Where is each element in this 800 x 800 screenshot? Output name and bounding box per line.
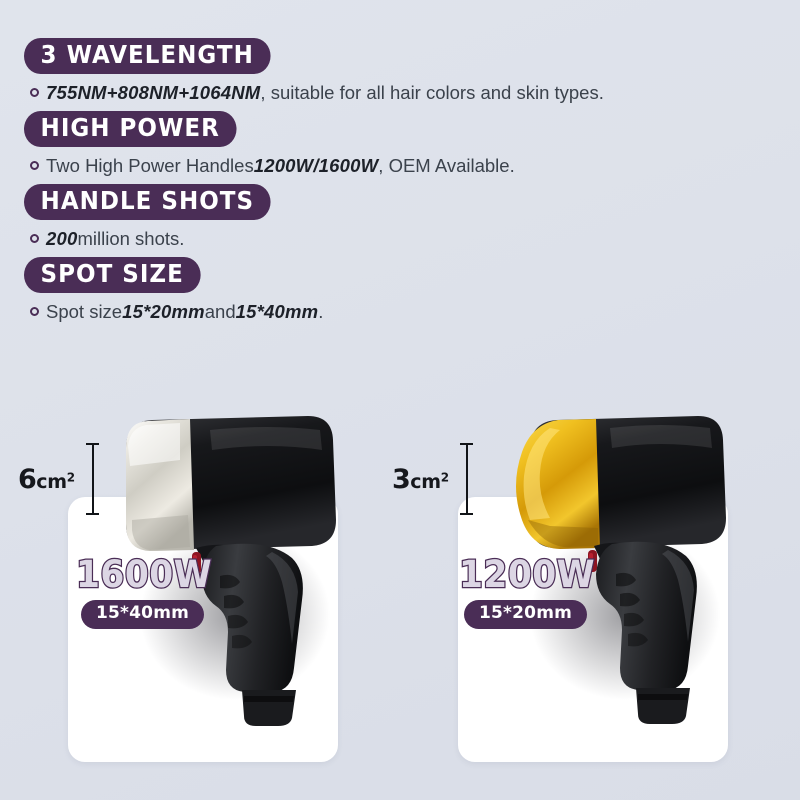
feature-desc-wavelength: 755NM+808NM+1064NM , suitable for all ha…	[30, 81, 784, 104]
feature-badge-wavelength: 3 WAVELENGTH	[24, 38, 270, 74]
measurement-superscript: 2	[441, 470, 449, 484]
measurement-unit: cm	[36, 471, 66, 493]
feature-high-power: HIGH POWER Two High Power Handles 1200W/…	[24, 111, 784, 177]
feature-value-spot-size-1: 15*20mm	[122, 300, 205, 323]
feature-desc-high-power: Two High Power Handles 1200W/1600W , OEM…	[30, 154, 784, 177]
feature-text-handle-shots: million shots.	[77, 227, 184, 250]
measurement-label-3cm: 3cm2	[392, 466, 449, 493]
feature-value-handle-shots: 200	[46, 227, 77, 250]
measurement-unit: cm	[410, 471, 440, 493]
bullet-icon	[30, 307, 39, 316]
product-caption-1200w: 1200W 15*20mm	[459, 556, 605, 629]
bullet-icon	[30, 234, 39, 243]
feature-text-wavelength: , suitable for all hair colors and skin …	[260, 81, 603, 104]
feature-badge-spot-size: SPOT SIZE	[24, 257, 200, 293]
feature-value-high-power: 1200W/1600W	[254, 154, 379, 177]
measurement-bar-icon	[460, 443, 473, 515]
product-power-label-1200w: 1200W	[459, 556, 595, 593]
feature-wavelength: 3 WAVELENGTH 755NM+808NM+1064NM , suitab…	[24, 38, 784, 104]
feature-badge-handle-shots: HANDLE SHOTS	[24, 184, 271, 220]
measurement-superscript: 2	[67, 470, 75, 484]
bullet-icon	[30, 161, 39, 170]
feature-mid-spot-size: and	[205, 300, 236, 323]
feature-spot-size: SPOT SIZE Spot size 15*20mm and 15*40mm …	[24, 257, 784, 323]
feature-desc-handle-shots: 200 million shots.	[30, 227, 784, 250]
feature-desc-spot-size: Spot size 15*20mm and 15*40mm .	[30, 300, 784, 323]
feature-badge-high-power: HIGH POWER	[24, 111, 236, 147]
feature-lead-high-power: Two High Power Handles	[46, 154, 254, 177]
bullet-icon	[30, 88, 39, 97]
feature-list: 3 WAVELENGTH 755NM+808NM+1064NM , suitab…	[24, 38, 784, 331]
measurement-3cm: 3cm2	[392, 443, 473, 515]
product-spot-size-badge-1200w: 15*20mm	[464, 600, 587, 629]
product-caption-1600w: 1600W 15*40mm	[76, 556, 222, 629]
measurement-number: 6	[18, 464, 36, 495]
product-spot-size-badge-1600w: 15*40mm	[81, 600, 204, 629]
product-power-label-1600w: 1600W	[76, 556, 212, 593]
feature-lead-spot-size: Spot size	[46, 300, 122, 323]
measurement-label-6cm: 6cm2	[18, 466, 75, 493]
product-spec-page: 3 WAVELENGTH 755NM+808NM+1064NM , suitab…	[0, 0, 800, 800]
feature-text-high-power: , OEM Available.	[378, 154, 514, 177]
measurement-number: 3	[392, 464, 410, 495]
feature-value-wavelength: 755NM+808NM+1064NM	[46, 81, 260, 104]
measurement-bar-icon	[86, 443, 99, 515]
measurement-6cm: 6cm2	[18, 443, 99, 515]
feature-value-spot-size-2: 15*40mm	[236, 300, 319, 323]
feature-text-spot-size: .	[318, 300, 323, 323]
feature-handle-shots: HANDLE SHOTS 200 million shots.	[24, 184, 784, 250]
